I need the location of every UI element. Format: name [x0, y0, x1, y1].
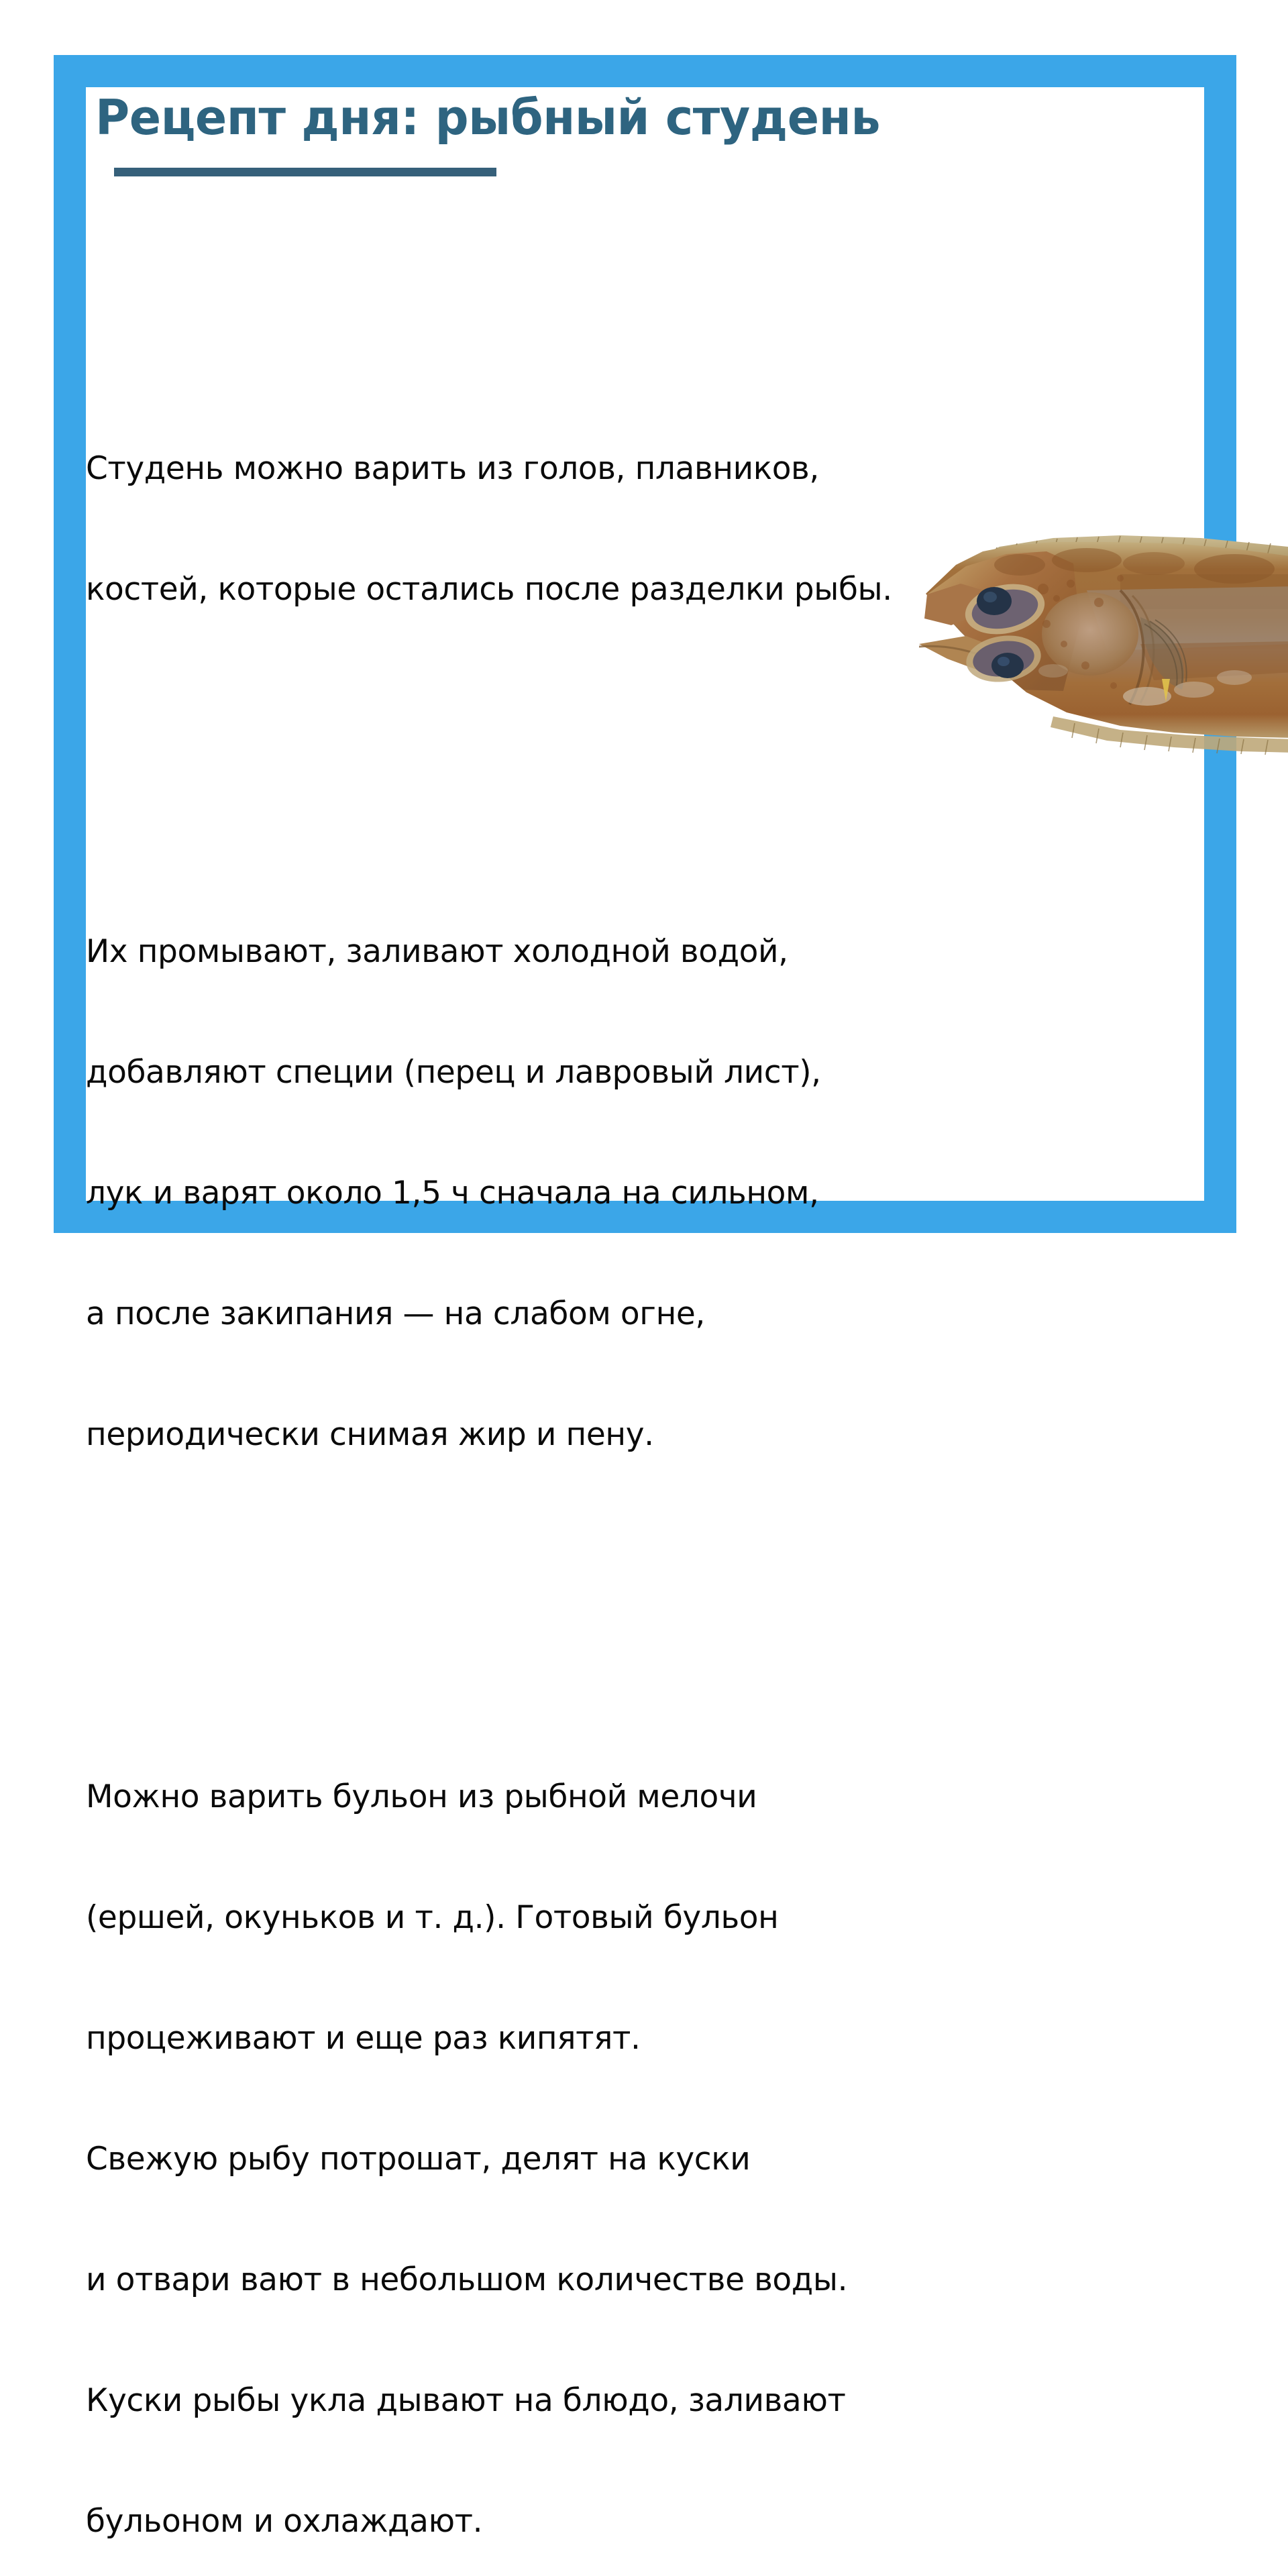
title-underline-rule — [114, 168, 496, 176]
recipe-line: добавляют специи (перец и лавровый лист)… — [86, 1053, 1199, 1093]
recipe-line: бульоном и охлаждают. — [86, 2502, 1199, 2542]
poster-canvas: Рецепт дня: рыбный студень Студень можно… — [0, 0, 1288, 1288]
recipe-line: Свежую рыбу потрошат, делят на куски — [86, 2139, 1199, 2180]
recipe-line: периодически снимая жир и пену. — [86, 1415, 1199, 1455]
poster-content: Рецепт дня: рыбный студень Студень можно… — [86, 87, 1204, 1201]
recipe-paragraph: Можно варить бульон из рыбной мелочи (ер… — [86, 1697, 1199, 2576]
recipe-line: а после закипания — на слабом огне, — [86, 1294, 1199, 1334]
recipe-paragraph: Их промывают, заливают холодной водой, д… — [86, 851, 1199, 1536]
recipe-body: Студень можно варить из голов, плавников… — [86, 248, 1199, 2576]
recipe-line: (ершей, окуньков и т. д.). Готовый бульо… — [86, 1898, 1199, 1938]
recipe-line: Их промывают, заливают холодной водой, — [86, 932, 1199, 972]
title-block: Рецепт дня: рыбный студень — [95, 93, 1034, 176]
recipe-paragraph: Студень можно варить из голов, плавников… — [86, 368, 1199, 690]
recipe-line: и отвари вают в небольшом количестве вод… — [86, 2260, 1199, 2300]
recipe-line: лук и варят около 1,5 ч сначала на сильн… — [86, 1173, 1199, 1214]
page-title: Рецепт дня: рыбный студень — [95, 93, 1006, 144]
recipe-line: костей, которые остались после разделки … — [86, 570, 1199, 610]
recipe-line: Куски рыбы укла дывают на блюдо, заливаю… — [86, 2381, 1199, 2421]
recipe-line: Студень можно варить из голов, плавников… — [86, 449, 1199, 489]
recipe-line: процеживают и еще раз кипятят. — [86, 2019, 1199, 2059]
recipe-line: Можно варить бульон из рыбной мелочи — [86, 1777, 1199, 1817]
